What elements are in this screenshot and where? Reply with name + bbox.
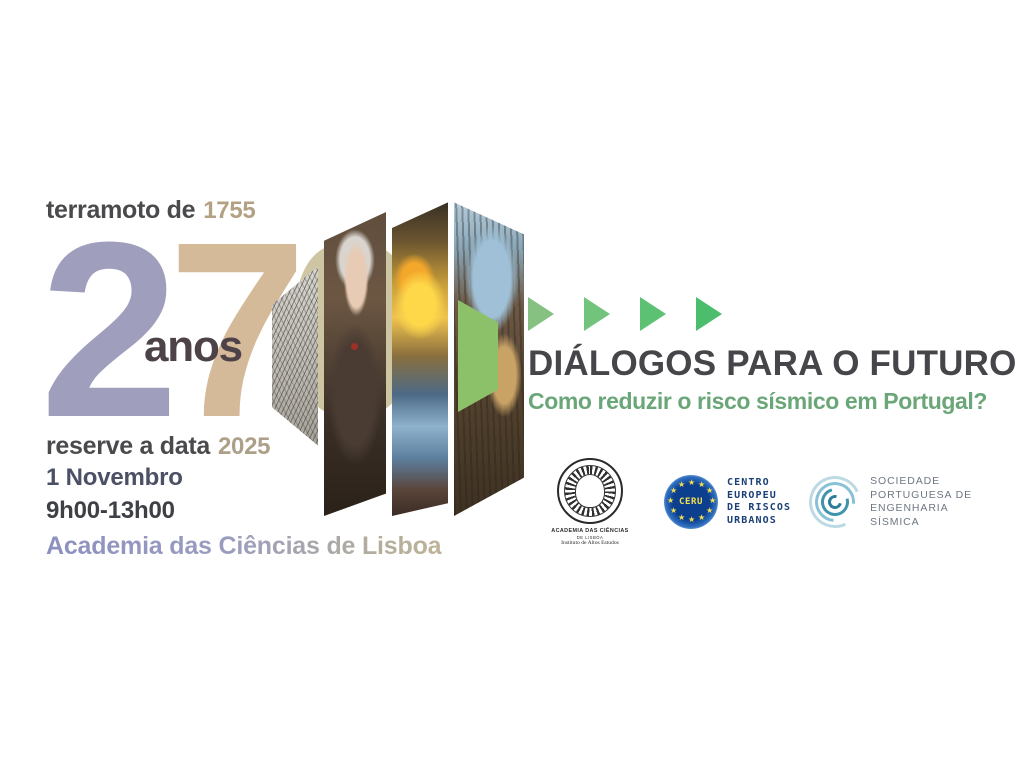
logo-centro-europeu-de-riscos-urbanos: ★ ★ ★ ★ ★ ★ ★ ★ ★ ★ ★ ★ CERU CENTRO EURO…	[664, 475, 791, 529]
campaign-block: DIÁLOGOS PARA O FUTURO Como reduzir o ri…	[528, 294, 998, 413]
save-the-date-line: reserve a data2025	[46, 434, 506, 459]
academia-seal-icon	[557, 458, 623, 524]
academia-line-3: Instituto de Altos Estudos	[551, 540, 628, 547]
anos-label: anos	[144, 325, 242, 369]
ceru-badge-word: CERU	[664, 497, 718, 507]
campaign-title: DIÁLOGOS PARA O FUTURO	[528, 346, 998, 381]
play-arrow-icon-3	[640, 297, 666, 331]
spes-line-4: SÍSMICA	[870, 516, 972, 530]
ceru-line-2: EUROPEU	[727, 490, 791, 503]
ceru-eu-stars-icon: ★ ★ ★ ★ ★ ★ ★ ★ ★ ★ ★ ★ CERU	[664, 475, 718, 529]
event-time: 9h00-13h00	[46, 496, 506, 525]
arrow-row	[528, 294, 998, 334]
event-venue: Academia das Ciências de Lisboa	[46, 534, 506, 559]
logo-academia-das-ciencias-de-lisboa: ACADEMIA DAS CIÊNCIAS DE LISBOA Institut…	[534, 458, 646, 547]
event-poster: terramoto de1755 2 7 0 anos reserve a da…	[0, 0, 1024, 768]
partner-logos: ACADEMIA DAS CIÊNCIAS DE LISBOA Institut…	[534, 458, 972, 547]
academia-logo-text: ACADEMIA DAS CIÊNCIAS DE LISBOA Institut…	[551, 528, 628, 547]
ceru-line-4: URBANOS	[727, 515, 791, 528]
play-arrow-icon-2	[584, 297, 610, 331]
ceru-line-3: DE RISCOS	[727, 502, 791, 515]
play-arrow-icon-4	[696, 297, 722, 331]
spes-logo-text: SOCIEDADE PORTUGUESA DE ENGENHARIA SÍSMI…	[870, 475, 972, 530]
play-arrow-icon-1	[528, 297, 554, 331]
campaign-subtitle: Como reduzir o risco sísmico em Portugal…	[528, 390, 998, 413]
event-date: 1 Novembro	[46, 463, 506, 492]
spes-line-2: PORTUGUESA DE	[870, 489, 972, 503]
spes-line-1: SOCIEDADE	[870, 475, 972, 489]
spes-spiral-rings-icon	[809, 476, 861, 528]
ceru-logo-text: CENTRO EUROPEU DE RISCOS URBANOS	[727, 477, 791, 527]
logo-sociedade-portuguesa-de-engenharia-sismica: SOCIEDADE PORTUGUESA DE ENGENHARIA SÍSMI…	[809, 475, 972, 530]
ceru-line-1: CENTRO	[727, 477, 791, 490]
save-the-date-label: reserve a data	[46, 432, 210, 460]
event-details: reserve a data2025 1 Novembro 9h00-13h00…	[46, 434, 506, 559]
academia-line-1: ACADEMIA DAS CIÊNCIAS	[551, 528, 628, 535]
spes-line-3: ENGENHARIA	[870, 502, 972, 516]
save-the-date-year: 2025	[218, 433, 270, 460]
